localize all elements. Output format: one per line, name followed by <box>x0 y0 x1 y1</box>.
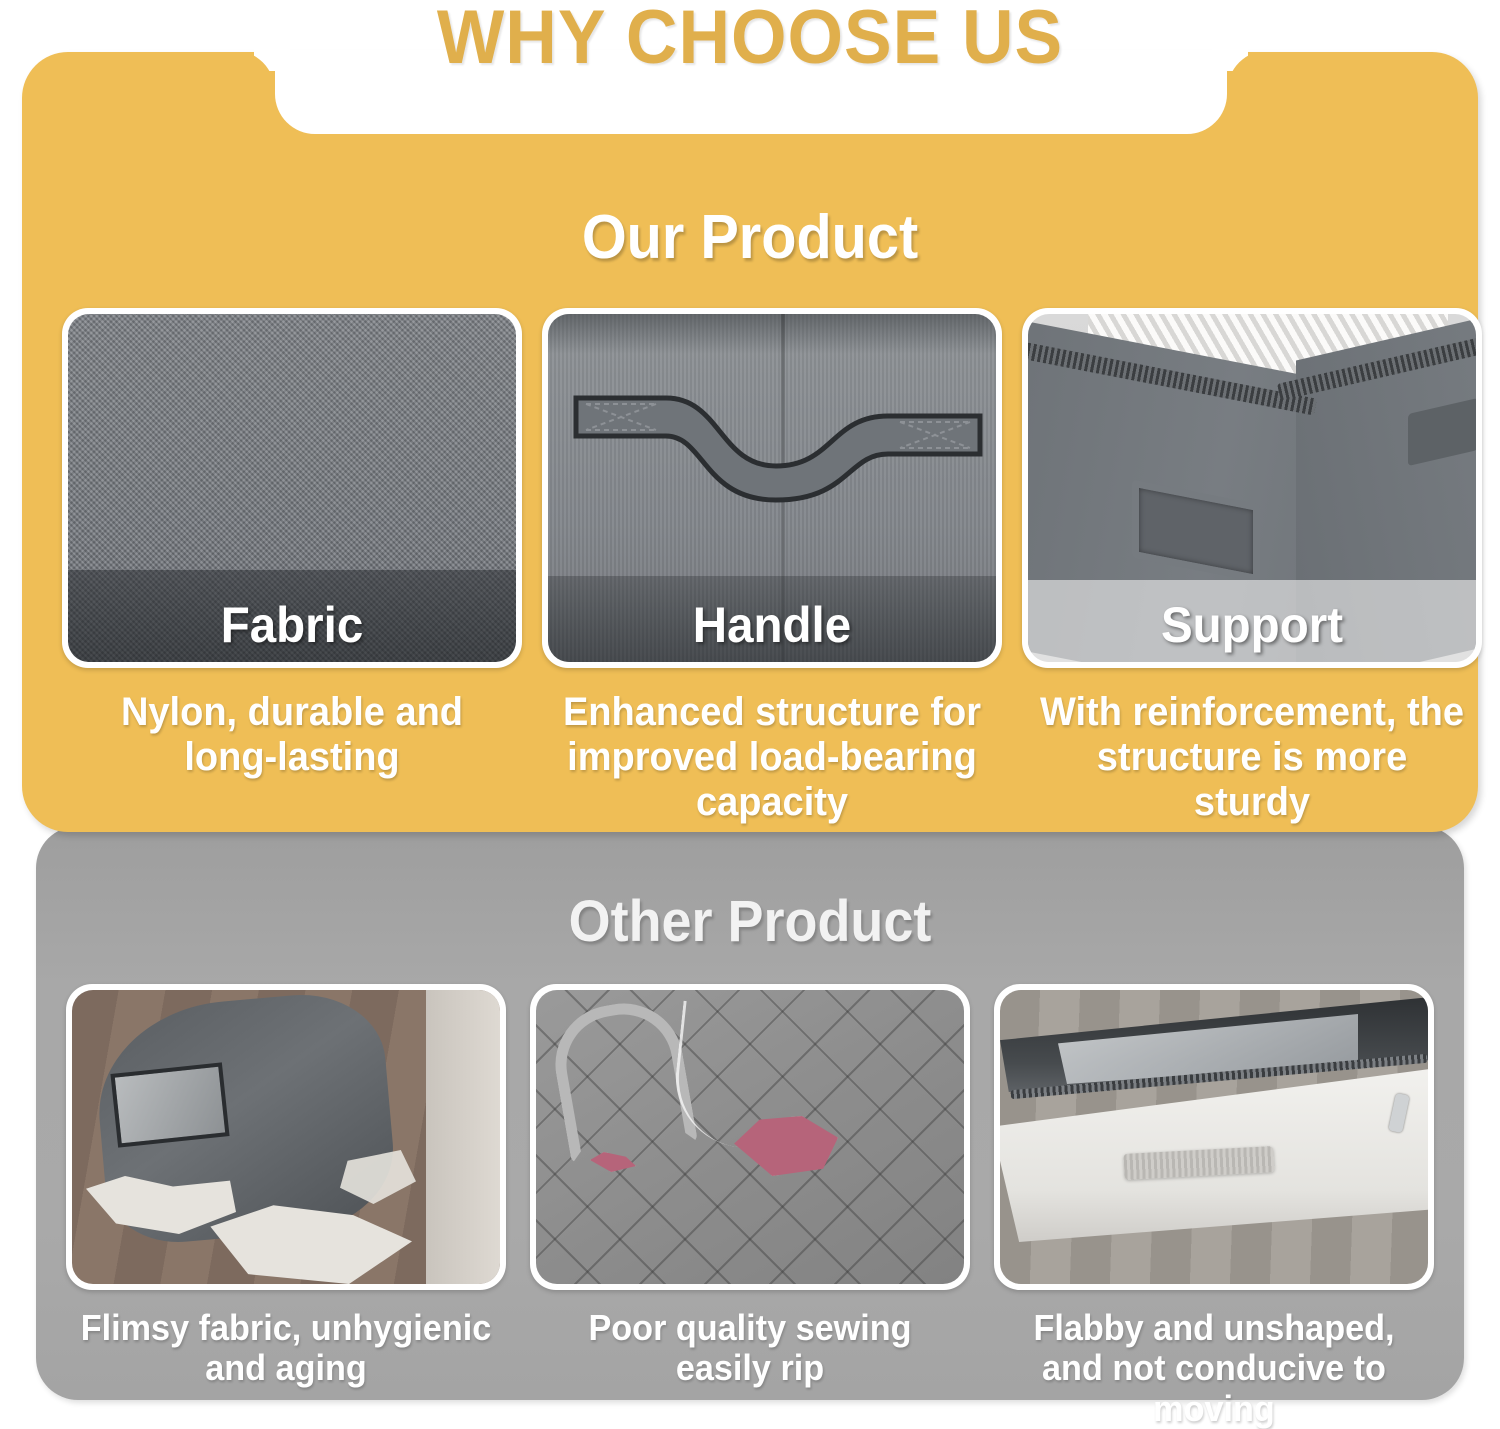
card-label-handle: Handle <box>559 596 985 662</box>
card-label-fabric: Fabric <box>79 596 505 662</box>
our-product-card-handle[interactable]: Handle <box>542 308 1002 668</box>
fabric-photo: Fabric <box>68 314 516 662</box>
flimsy-fabric-photo <box>72 990 500 1284</box>
page-title: WHY CHOOSE US <box>45 0 1455 81</box>
handle-strap <box>570 388 986 506</box>
baseboard-wall <box>426 990 500 1284</box>
other-product-panel: Other Product <box>36 826 1464 1400</box>
handle-top-edge <box>548 314 996 354</box>
caption-sewing: Poor quality sewing easily rip <box>541 1308 959 1429</box>
other-product-card-flabby[interactable] <box>994 984 1434 1290</box>
our-product-card-support[interactable]: Support <box>1022 308 1482 668</box>
caption-flabby: Flabby and unshaped, and not conducive t… <box>1005 1308 1423 1429</box>
bag-clear-window <box>110 1062 229 1147</box>
other-product-card-row <box>66 984 1434 1290</box>
our-product-card-row: Fabric Handle <box>62 308 1482 668</box>
other-product-caption-row: Flimsy fabric, unhygienic and aging Poor… <box>66 1308 1434 1429</box>
our-product-panel: Our Product Fabric <box>22 52 1478 832</box>
quilted-fabric-photo <box>536 990 964 1284</box>
support-photo: Support <box>1028 314 1476 662</box>
handle-photo: Handle <box>548 314 996 662</box>
caption-flimsy: Flimsy fabric, unhygienic and aging <box>77 1308 495 1429</box>
our-product-heading: Our Product <box>73 202 1427 273</box>
other-product-card-sewing[interactable] <box>530 984 970 1290</box>
other-product-card-flimsy[interactable] <box>66 984 506 1290</box>
our-product-card-fabric[interactable]: Fabric <box>62 308 522 668</box>
other-product-heading: Other Product <box>86 888 1414 955</box>
caption-handle: Enhanced structure for improved load-bea… <box>554 690 991 824</box>
caption-fabric: Nylon, durable and long-lasting <box>74 690 511 824</box>
flabby-bag-photo <box>1000 990 1428 1284</box>
our-product-caption-row: Nylon, durable and long-lasting Enhanced… <box>62 690 1482 824</box>
card-label-support: Support <box>1039 596 1465 662</box>
caption-support: With reinforcement, the structure is mor… <box>1034 690 1471 824</box>
